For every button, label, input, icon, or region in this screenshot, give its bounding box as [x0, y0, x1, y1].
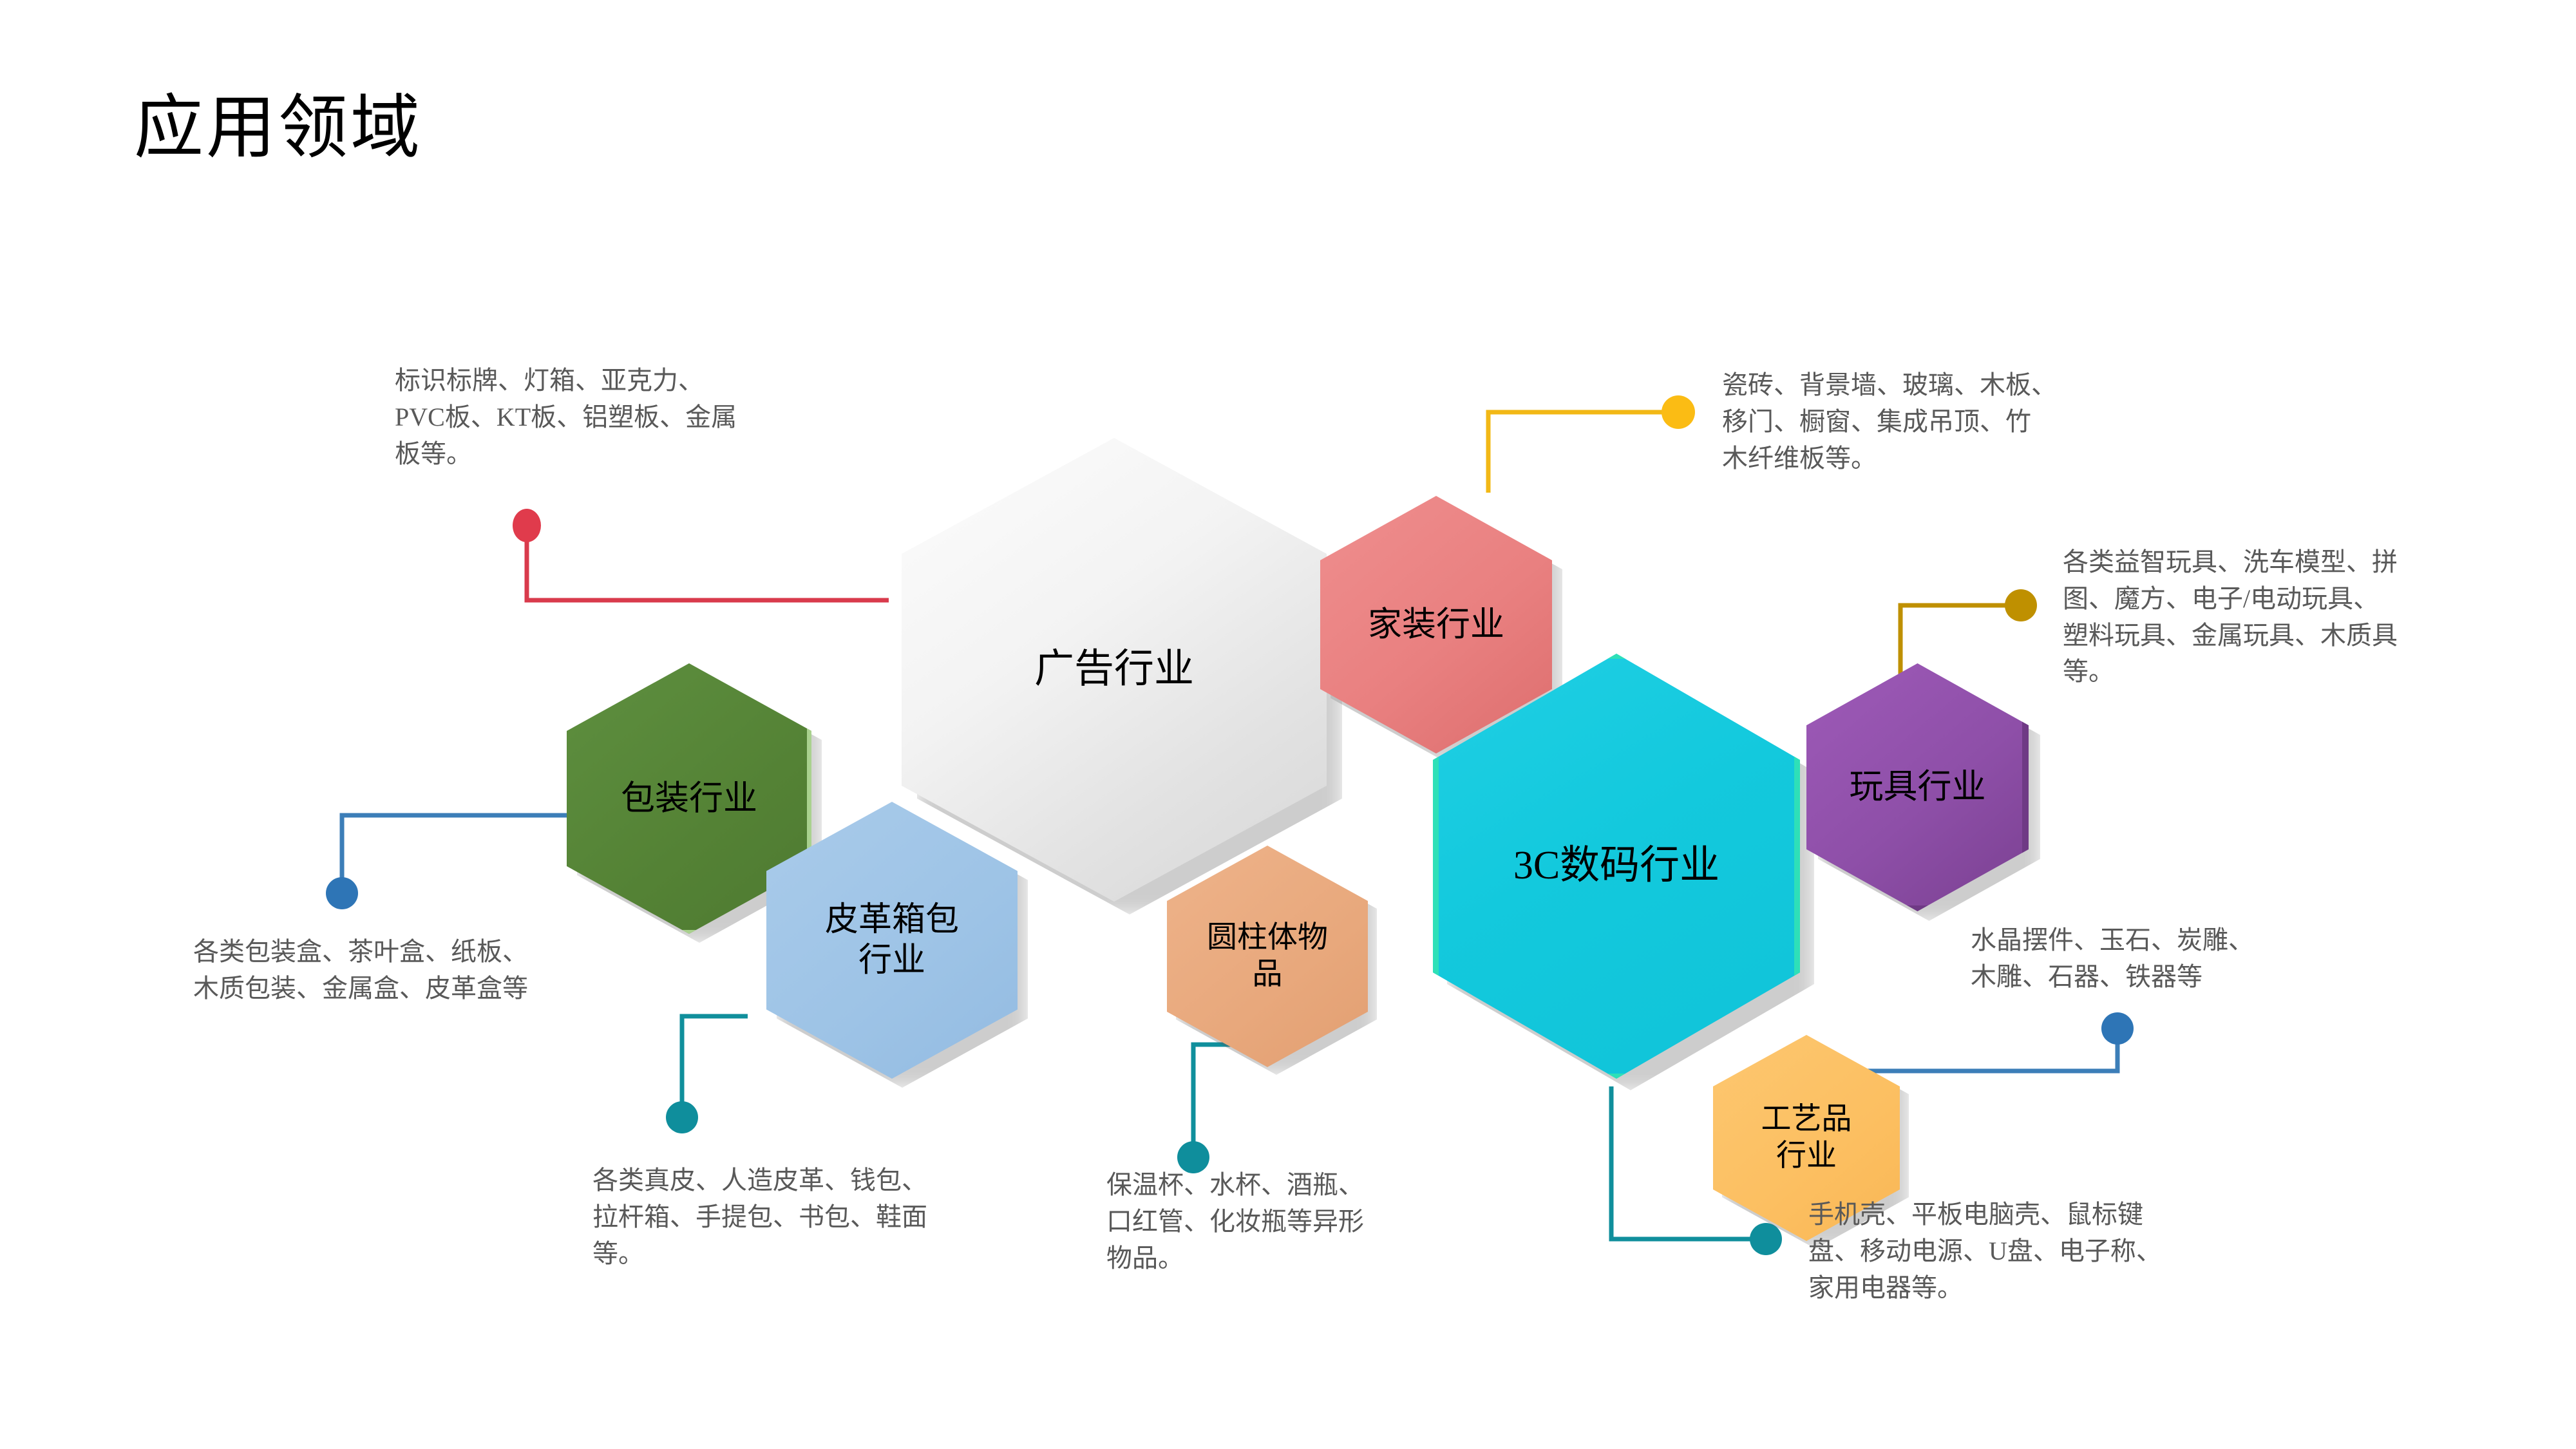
hexagon-cylinder-wrap: 圆柱体物 品	[1167, 846, 1368, 1067]
hexagon-digital3c-label: 3C数码行业	[1484, 842, 1749, 891]
hexagon-toy-wrap: 玩具行业	[1806, 663, 2029, 911]
hexagon-leather-wrap: 皮革箱包 行业	[766, 802, 1018, 1079]
hexagon-crafts-label: 工艺品 行业	[1746, 1101, 1866, 1175]
description-cylinder: 保温杯、水杯、酒瓶、 口红管、化妆瓶等异形 物品。	[1106, 1167, 1480, 1276]
hexagon-leather-label: 皮革箱包 行业	[805, 900, 979, 981]
description-toy: 各类益智玩具、洗车模型、拼 图、魔方、电子/电动玩具、 塑料玩具、金属玩具、木质…	[2063, 544, 2514, 690]
ad-connector	[513, 509, 889, 600]
hexagon-toy-label: 玩具行业	[1832, 766, 2003, 808]
description-home: 瓷砖、背景墙、玻璃、木板、 移门、橱窗、集成吊顶、竹 木纤维板等。	[1722, 367, 2173, 477]
description-packaging: 各类包装盒、茶叶盒、纸板、 木质包装、金属盒、皮革盒等	[193, 934, 657, 1007]
hexagon-home-label: 家装行业	[1349, 604, 1523, 646]
description-digital3c: 手机壳、平板电脑壳、鼠标键 盘、移动电源、U盘、电子称、 家用电器等。	[1808, 1197, 2272, 1306]
hexagon-cylinder-label: 圆柱体物 品	[1191, 920, 1344, 994]
hexagon-digital3c-wrap: 3C数码行业	[1433, 654, 1800, 1079]
description-crafts: 水晶摆件、玉石、炭雕、 木雕、石器、铁器等	[1971, 922, 2421, 996]
home-connector	[1488, 395, 1695, 493]
packaging-connector	[326, 815, 571, 909]
description-ad: 标识标牌、灯箱、亚克力、 PVC板、KT板、铝塑板、金属 板等。	[395, 363, 839, 472]
description-leather: 各类真皮、人造皮革、钱包、 拉杆箱、手提包、书包、鞋面 等。	[592, 1162, 1043, 1272]
hexagon-ad-label: 广告行业	[1000, 645, 1228, 694]
hexagon-packaging-label: 包装行业	[601, 778, 777, 820]
slide-canvas: 应用领域	[0, 0, 2576, 1449]
leather-connector	[666, 1016, 748, 1133]
